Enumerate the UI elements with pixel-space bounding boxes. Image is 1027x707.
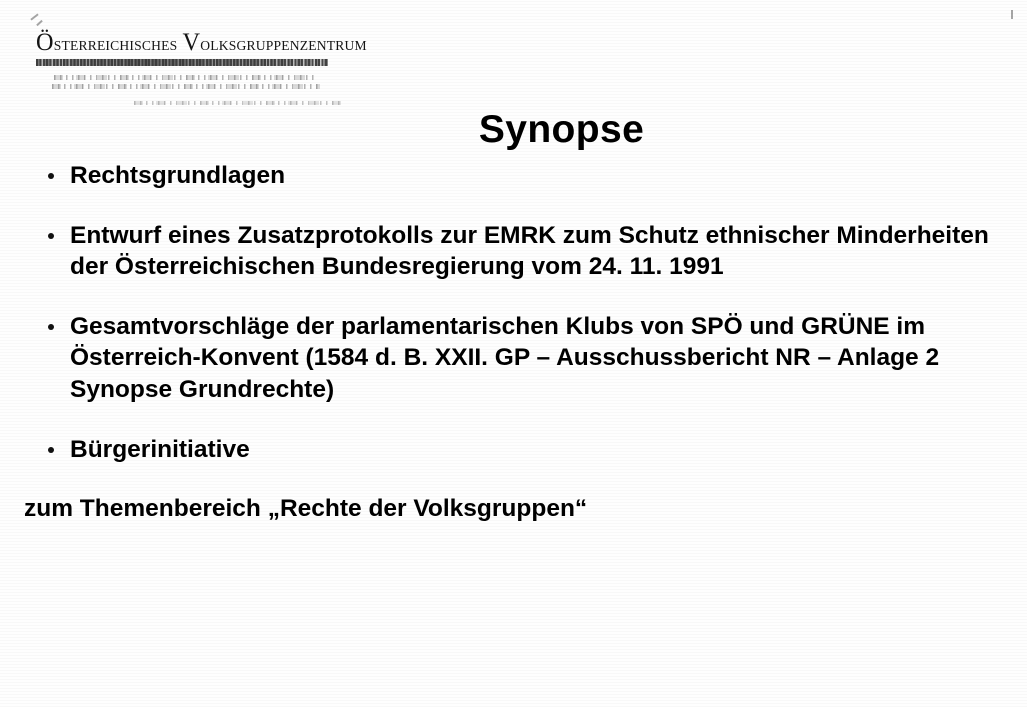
slide-page: Österreichisches Volksgruppenzentrum Syn…	[0, 0, 1027, 707]
page-title: Synopse	[0, 108, 1027, 152]
letterhead-illegible-line-3	[134, 101, 342, 105]
scan-speck-top-right	[1011, 10, 1013, 19]
letterhead-illegible-line-2	[52, 84, 320, 89]
scan-speck-top-left-2	[36, 20, 43, 26]
bullet-text: Gesamtvorschläge der parlamentarischen K…	[70, 311, 994, 404]
letterhead-divider-rule	[36, 59, 328, 66]
slide-body: Rechtsgrundlagen Entwurf eines Zusatzpro…	[44, 160, 994, 524]
bullet-text: Rechtsgrundlagen	[70, 160, 994, 191]
wordmark-volksgruppenzentrum: olksgruppenzentrum	[200, 33, 366, 55]
scan-speck-top-left	[30, 13, 38, 20]
letterhead-illegible-line-1	[54, 75, 316, 80]
list-item: Bürgerinitiative	[44, 434, 994, 465]
bullet-text: Bürgerinitiative	[70, 434, 994, 465]
wordmark-oesterreichisches: sterreichisches	[54, 33, 183, 55]
wordmark-initial-v: V	[183, 29, 201, 56]
list-item: Gesamtvorschläge der parlamentarischen K…	[44, 311, 994, 404]
letterhead-logo: Österreichisches Volksgruppenzentrum	[36, 30, 356, 105]
bullet-text: Entwurf eines Zusatzprotokolls zur EMRK …	[70, 220, 994, 282]
closing-line: zum Themenbereich „Rechte der Volksgrupp…	[24, 493, 994, 524]
list-item: Entwurf eines Zusatzprotokolls zur EMRK …	[44, 220, 994, 282]
list-item: Rechtsgrundlagen	[44, 160, 994, 191]
organization-wordmark: Österreichisches Volksgruppenzentrum	[36, 30, 346, 56]
wordmark-initial-o: Ö	[36, 29, 54, 56]
bullet-list: Rechtsgrundlagen Entwurf eines Zusatzpro…	[44, 160, 994, 465]
